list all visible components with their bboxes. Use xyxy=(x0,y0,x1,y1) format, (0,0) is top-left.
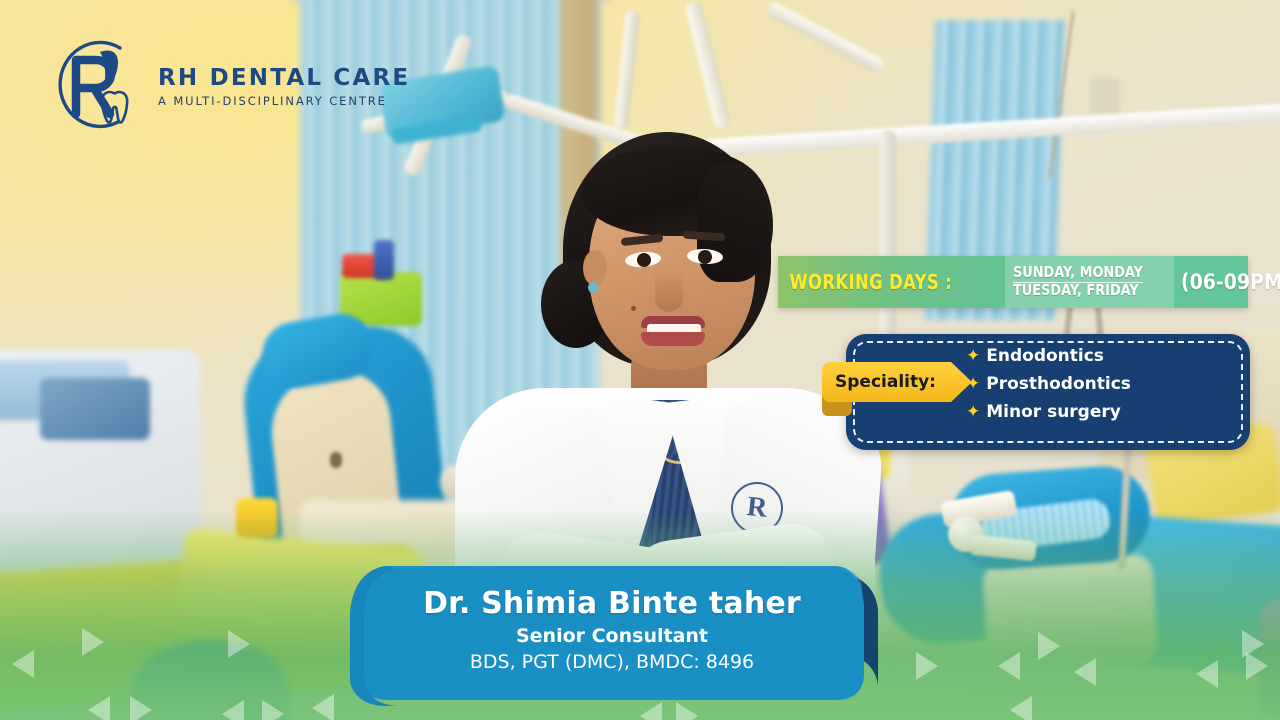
wall-socket-icon xyxy=(1090,78,1120,114)
triangle-decor-icon xyxy=(1196,660,1218,688)
triangle-decor-icon xyxy=(262,700,284,720)
triangle-decor-icon xyxy=(1038,632,1060,660)
yellow-knob xyxy=(236,498,278,538)
speciality-list: ✦ Endodontics ✦ Prosthodontics ✦ Minor s… xyxy=(966,346,1238,422)
speciality-tag-label: Speciality: xyxy=(822,372,936,392)
working-days-value: SUNDAY, MONDAY TUESDAY, FRIDAY xyxy=(1005,256,1174,308)
triangle-decor-icon xyxy=(130,696,152,720)
triangle-decor-icon xyxy=(88,696,110,720)
triangle-decor-icon xyxy=(916,652,938,680)
vertical-pipe xyxy=(880,130,896,340)
speciality-tag-body: Speciality: xyxy=(822,362,972,402)
banner-text-group: Dr. Shimia Binte taher Senior Consultant… xyxy=(330,586,894,673)
circle-r-tooth-logo-icon xyxy=(48,34,144,134)
triangle-decor-icon xyxy=(1074,658,1096,686)
triangle-decor-icon xyxy=(12,650,34,678)
list-item: ✦ Prosthodontics xyxy=(966,374,1238,394)
dental-chair-detail xyxy=(330,452,342,468)
triangle-decor-icon xyxy=(1010,696,1032,720)
list-item: ✦ Minor surgery xyxy=(966,402,1238,422)
working-hours-value: (06-09PM) xyxy=(1181,270,1280,294)
doctor-earring xyxy=(588,282,598,293)
instrument-cart-screen xyxy=(40,378,150,440)
triangle-decor-icon xyxy=(1242,630,1264,658)
doctor-mole xyxy=(631,306,636,311)
speciality-tag: Speciality: xyxy=(822,362,972,402)
doctor-pupil-left xyxy=(637,253,651,267)
doctor-ear xyxy=(583,250,607,286)
doctor-photo: R RH DENTAL CARE xyxy=(455,110,875,630)
brand-text: RH DENTAL CARE A MULTI-DISCIPLINARY CENT… xyxy=(158,61,410,108)
brand-logo[interactable]: RH DENTAL CARE A MULTI-DISCIPLINARY CENT… xyxy=(48,34,410,134)
instrument-panel-blue xyxy=(374,240,394,280)
triangle-decor-icon xyxy=(222,700,244,720)
speciality-label: Prosthodontics xyxy=(986,374,1131,394)
doctor-lower-lip xyxy=(641,332,705,346)
triangle-decor-icon xyxy=(228,630,250,658)
working-days-label: WORKING DAYS : xyxy=(778,270,952,294)
doctor-name: Dr. Shimia Binte taher xyxy=(330,586,894,621)
speciality-label: Endodontics xyxy=(986,346,1104,366)
list-item: ✦ Endodontics xyxy=(966,346,1238,366)
triangle-decor-icon xyxy=(998,652,1020,680)
brand-title: RH DENTAL CARE xyxy=(158,65,410,91)
brand-subtitle: A MULTI-DISCIPLINARY CENTRE xyxy=(158,94,410,108)
promo-poster: R RH DENTAL CARE xyxy=(0,0,1280,720)
doctor-nose xyxy=(655,270,683,312)
speciality-label: Minor surgery xyxy=(986,402,1121,422)
doctor-pupil-right xyxy=(698,250,712,264)
working-days-line-2: TUESDAY, FRIDAY xyxy=(1013,283,1143,299)
doctor-qualifications: BDS, PGT (DMC), BMDC: 8496 xyxy=(330,651,894,673)
working-days-bar: WORKING DAYS : SUNDAY, MONDAY TUESDAY, F… xyxy=(778,256,1248,308)
doctor-role: Senior Consultant xyxy=(330,625,894,647)
triangle-decor-icon xyxy=(82,628,104,656)
doctor-name-banner: Dr. Shimia Binte taher Senior Consultant… xyxy=(330,566,894,720)
star-bullet-icon: ✦ xyxy=(966,404,980,421)
